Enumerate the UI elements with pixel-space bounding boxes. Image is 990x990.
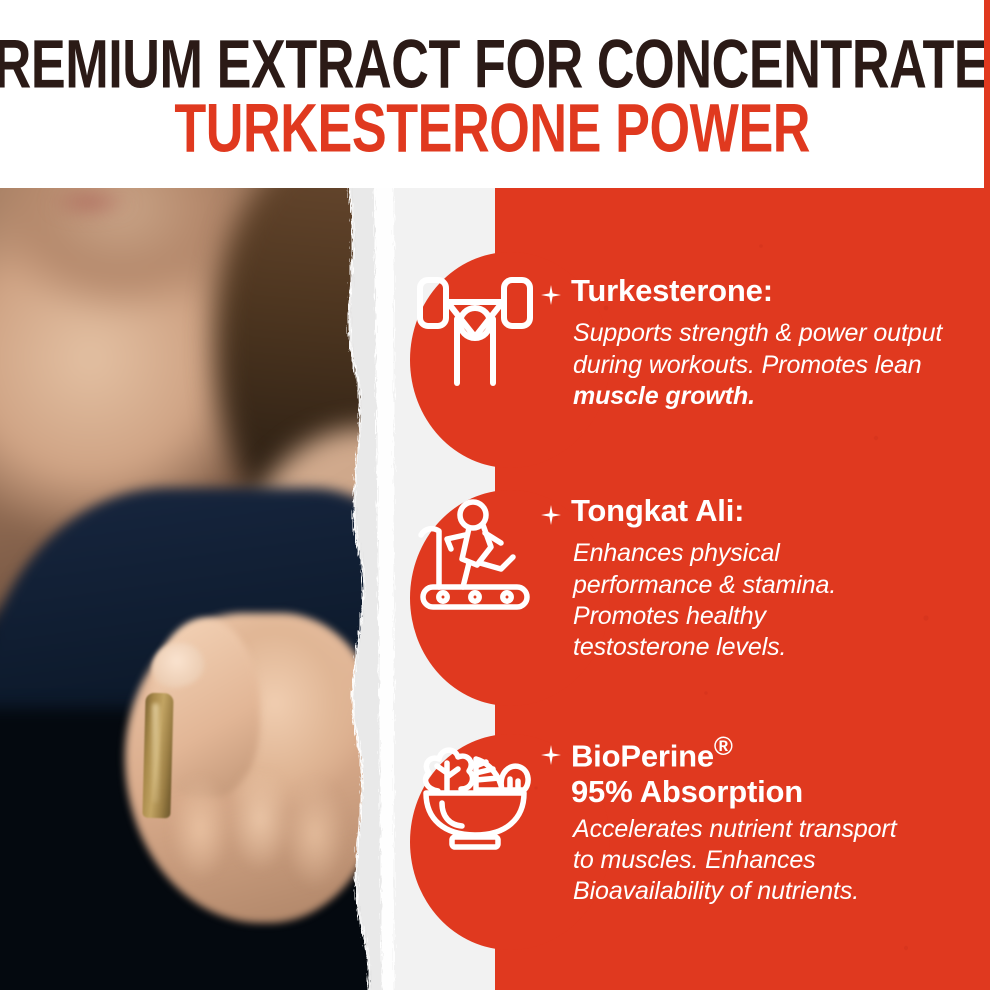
content-stage: Turkesterone: Supports strength & power …: [0, 188, 984, 990]
feature-title-row: BioPerine® 95% Absorption: [540, 733, 920, 809]
feature-block-bioperine: BioPerine® 95% Absorption Accelerates nu…: [410, 733, 920, 908]
headline-line-2: TURKESTERONE POWER: [174, 96, 810, 162]
salad-bowl-icon: [410, 733, 540, 853]
feature-description-emphasis: muscle growth.: [573, 382, 755, 410]
product-photo: [0, 188, 420, 990]
feature-description-plain: Supports strength & power output during …: [573, 319, 942, 378]
feature-title-second-line: 95% Absorption: [571, 774, 803, 809]
headline-line-1: PREMIUM EXTRACT FOR CONCENTRATED: [0, 32, 990, 98]
registered-trademark-mark: ®: [714, 733, 733, 761]
photo-lips-layer: [30, 188, 150, 222]
photo-capsule-highlight: [152, 703, 159, 803]
feature-title-row: Turkesterone:: [540, 273, 984, 313]
weightlifter-icon: [410, 273, 540, 387]
feature-description: Accelerates nutrient transport to muscle…: [540, 814, 920, 908]
photo-knuckles-layer: [165, 773, 365, 958]
feature-title: Turkesterone:: [571, 273, 773, 308]
feature-title: BioPerine: [571, 738, 714, 773]
feature-text-turkesterone: Turkesterone: Supports strength & power …: [540, 273, 984, 412]
feature-text-tongkat-ali: Tongkat Ali: Enhances physical performan…: [540, 493, 900, 663]
product-infographic: PREMIUM EXTRACT FOR CONCENTRATED TURKEST…: [0, 0, 990, 990]
sparkle-plus-icon: [540, 278, 562, 313]
feature-title-stack: BioPerine® 95% Absorption: [571, 733, 803, 809]
treadmill-runner-icon: [410, 493, 540, 613]
feature-title: Tongkat Ali:: [571, 493, 744, 528]
feature-block-turkesterone: Turkesterone: Supports strength & power …: [410, 273, 984, 412]
sparkle-plus-icon: [540, 498, 562, 533]
feature-text-bioperine: BioPerine® 95% Absorption Accelerates nu…: [540, 733, 920, 908]
feature-description: Enhances physical performance & stamina.…: [540, 538, 900, 663]
right-edge-accent-strip: [984, 0, 990, 990]
feature-title-row: Tongkat Ali:: [540, 493, 900, 533]
feature-description: Supports strength & power output during …: [540, 318, 984, 412]
header-band: PREMIUM EXTRACT FOR CONCENTRATED TURKEST…: [0, 0, 984, 188]
feature-block-tongkat-ali: Tongkat Ali: Enhances physical performan…: [410, 493, 900, 663]
sparkle-plus-icon: [540, 738, 562, 773]
